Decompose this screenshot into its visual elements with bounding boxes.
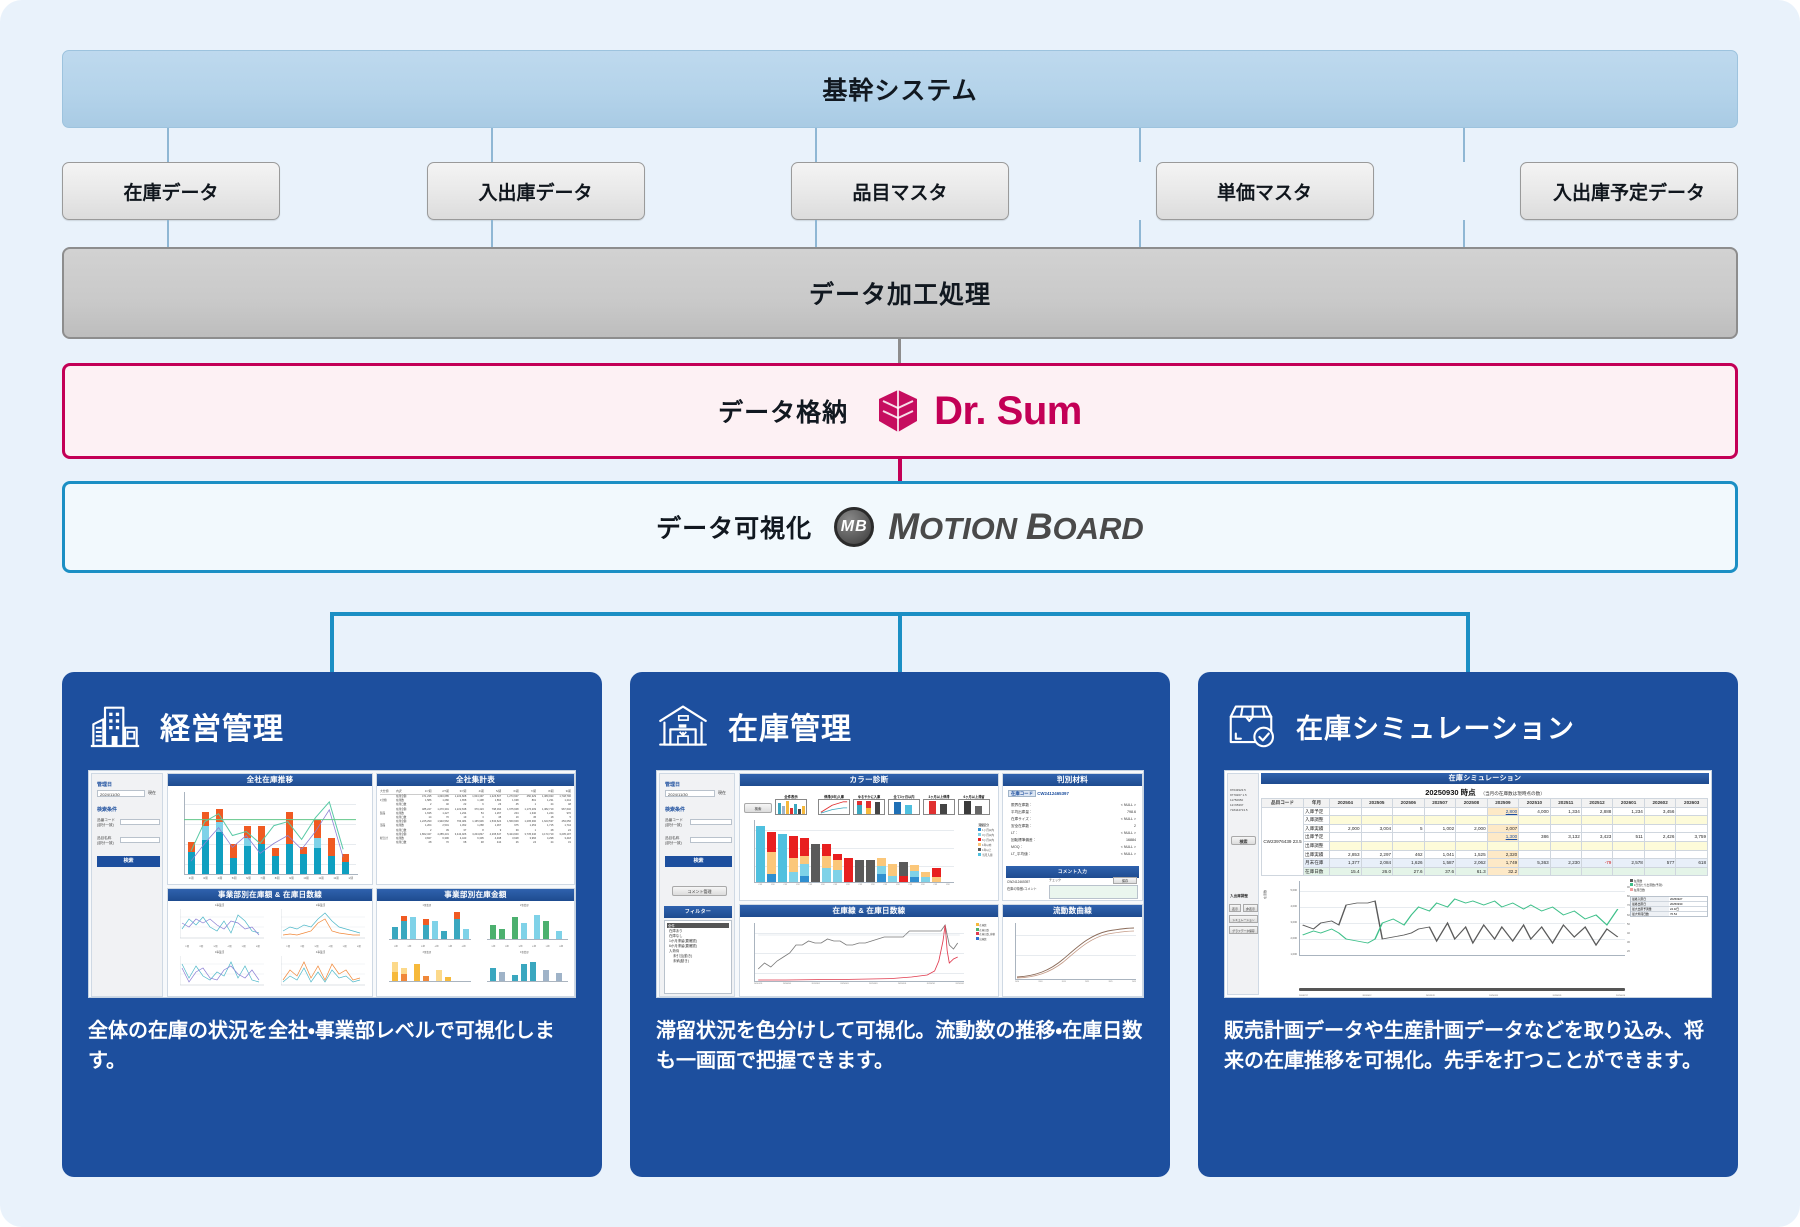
panel-judgement-material: 判別材料 在庫コード CW2412465397 限界在庫数：< NULL > 平… xyxy=(1002,773,1143,901)
panel-title: 事業部別在庫額 & 在庫日数線 xyxy=(168,889,372,901)
cell xyxy=(1644,850,1676,859)
toolbar-thumb-all[interactable]: 全件表示 xyxy=(775,794,807,815)
cell: 1,749 xyxy=(1487,859,1519,868)
motionboard-badge-label: MB xyxy=(841,518,868,536)
sidebar-field2-label: 品目名称 (部分一致) xyxy=(97,836,114,846)
card-header: 経営管理 xyxy=(88,694,576,758)
core-system-label: 基幹システム xyxy=(822,71,977,107)
sidebar-label-date: 管理日 xyxy=(665,781,680,788)
judgement-code: 在庫コード CW2412465397 xyxy=(1008,791,1069,797)
cell xyxy=(1361,807,1393,816)
cell: 2,320 xyxy=(1487,850,1519,859)
panel-company-inventory-trend: 全社在庫推移 xyxy=(167,773,373,885)
sidebar-label-date: 管理日 xyxy=(97,781,112,788)
judgement-value: 16884 xyxy=(1126,837,1136,844)
card-management[interactable]: 経営管理 管理日 2024/11/30 現在 検索条件 品番コード (部分一致)… xyxy=(62,672,602,1177)
io-simulate-button[interactable]: シミュレーション xyxy=(1229,915,1258,923)
sidebar-label-criteria: 検索条件 xyxy=(665,806,685,813)
sidebar-label-criteria: 検索条件 xyxy=(97,806,117,813)
toolbar-thumb-stagnant[interactable]: 停滞(5年)入庫 xyxy=(818,794,850,815)
cell: 3,759 xyxy=(1676,833,1708,842)
sidebar-date-suffix: 現在 xyxy=(148,790,156,796)
row-label: 月末在庫 xyxy=(1304,859,1330,868)
cell: 3,456 xyxy=(1644,807,1676,816)
table-row: 月末在庫 1,377 2,084 1,626 1,587 2,062 1,749… xyxy=(1262,859,1708,868)
connector-src-proc-5 xyxy=(1463,220,1465,247)
col-item-code: 品目コード xyxy=(1262,799,1304,808)
col-202509: 202509 xyxy=(1487,799,1519,808)
col-202507: 202507 xyxy=(1424,799,1456,808)
process-to-storage-connector xyxy=(62,339,1738,363)
cell xyxy=(1330,807,1362,816)
col-month: 年月 xyxy=(1304,799,1330,808)
cell: 5,363 xyxy=(1519,859,1551,868)
panel-division-inventory-amount: 事業部別在庫金額 1事業部 xyxy=(376,888,575,997)
mini-chart-1: 1事業部 1/期2/期3/期4/期5/期6/期 xyxy=(170,903,269,948)
cell: 462 xyxy=(1393,850,1425,859)
storage-label: データ格納 xyxy=(718,393,848,429)
cell: 386 xyxy=(1519,833,1551,842)
panel-company-summary-table: 全社集計表 大分類内訳 1/7期2/7期3/7期4/期5/期6/期7/期8/期9… xyxy=(376,773,575,885)
info-value: 76.54 xyxy=(1669,912,1707,916)
judgement-key: 限界在庫数： xyxy=(1011,802,1033,809)
cell xyxy=(1330,833,1362,842)
legend-label: 在庫日数 xyxy=(1634,888,1645,892)
row-label: 出庫予定 xyxy=(1304,833,1330,842)
judgement-key: LT_平均値： xyxy=(1011,851,1031,858)
toolbar-thumb-over3m[interactable]: 3ヶ月以上停滞 xyxy=(923,794,955,815)
cell: 511 xyxy=(1613,833,1645,842)
cell xyxy=(1613,850,1645,859)
dashboard-canvas: 在庫シミュレーション 97643923.5 9770267 1.5 117509… xyxy=(1225,771,1711,997)
cell: 2,230 xyxy=(1550,859,1581,868)
comment-check-label: チェック xyxy=(1049,878,1061,882)
connector-core-src-1 xyxy=(167,128,169,162)
cell xyxy=(1456,807,1488,816)
cell: 2,888 xyxy=(1581,807,1613,816)
filter-panel-title: フィルター xyxy=(664,906,732,918)
drsum-logo: Dr. Sum xyxy=(874,387,1082,435)
cell: 3,423 xyxy=(1581,833,1613,842)
feature-cards: 経営管理 管理日 2024/11/30 現在 検索条件 品番コード (部分一致)… xyxy=(62,672,1738,1177)
simulation-trend-chart: 在庫数 5,0004,0003,0002,0001,000 xyxy=(1281,881,1625,989)
row-label: 在庫日数 xyxy=(1304,867,1330,876)
cell xyxy=(1644,824,1676,833)
cell: 1,377 xyxy=(1330,859,1362,868)
cell xyxy=(1393,807,1425,816)
source-box-price-master[interactable]: 単価マスタ xyxy=(1156,162,1374,220)
cell xyxy=(1613,824,1645,833)
io-show-button[interactable]: 表示 xyxy=(1229,904,1241,912)
cell: 15.4 xyxy=(1330,867,1362,876)
judgement-key: 平均出庫量： xyxy=(1011,809,1033,816)
mini-chart-4: 4事業部 xyxy=(271,950,370,995)
cell: 2,800 xyxy=(1487,807,1519,816)
info-value: 24.9/日 xyxy=(1669,907,1707,911)
cell: 3,004 xyxy=(1361,824,1393,833)
toolbar-thumb-within3m[interactable]: 全て3ヶ月以内 xyxy=(888,794,920,815)
cell: 618 xyxy=(1676,859,1708,868)
drsum-wordmark: Dr. Sum xyxy=(934,389,1082,434)
toolbar-thumb-over6m[interactable]: 6ヶ月以上滞留 xyxy=(958,794,990,815)
connector-src-proc-3 xyxy=(815,220,817,247)
sidebar-item[interactable]: 718444713.5 xyxy=(1230,808,1248,813)
table-row: 出庫予定 1,300 386 3,132 3,423 511 xyxy=(1262,833,1708,842)
judgement-value: < NULL > xyxy=(1121,844,1136,851)
filter-item[interactable]: 未納(動き) xyxy=(667,958,729,963)
diagram-root: 基幹システム 在庫データ 入出庫データ 品目マスタ 単価マスタ 入出庫予定データ xyxy=(0,0,1800,1227)
x-label: 20250616 xyxy=(1616,995,1625,997)
table-row: 出庫調整 xyxy=(1262,841,1708,850)
judgement-code-tag: 在庫コード xyxy=(1008,790,1036,797)
cell: 1,002 xyxy=(1424,824,1456,833)
comment-code: CW2412465397 xyxy=(1007,880,1030,884)
motionboard-logo: MB MOTION BOARD xyxy=(834,506,1144,548)
sidebar-date-suffix: 現在 xyxy=(718,790,726,796)
sidebar-comment-manage-button[interactable]: コメント管理 xyxy=(672,886,727,896)
cell: 2,062 xyxy=(1456,859,1488,868)
sidebar-date-value: 2024/11/30 xyxy=(668,792,688,797)
cell: 2,084 xyxy=(1361,859,1393,868)
judgement-key: 在庫サイズ： xyxy=(1011,816,1032,823)
col-202505: 202505 xyxy=(1361,799,1393,808)
connector-core-src-3 xyxy=(815,128,817,162)
card-inventory-management[interactable]: 在庫管理 管理日 2024/11/30 現在 検索条件 品番コード (部分一致)… xyxy=(630,672,1170,1177)
card-inventory-simulation[interactable]: 在庫シミュレーション 在庫シミュレーション 97643923.5 9770267… xyxy=(1198,672,1738,1177)
mini-bar-3: 3事業部 xyxy=(379,950,475,995)
cell xyxy=(1676,807,1708,816)
mb-word2-rest: OARD xyxy=(1053,511,1144,546)
cell xyxy=(1456,833,1488,842)
sidebar-field1-input[interactable] xyxy=(690,819,732,825)
table-row: CW23976439 23.5 入庫予定 2,800 4,000 1,334 xyxy=(1262,807,1708,816)
sidebar-date-select[interactable]: 2024/11/30 xyxy=(665,790,715,797)
table-row: 在庫日数 15.4 26.0 27.6 37.6 61.3 32.2 xyxy=(1262,867,1708,876)
sidebar-field1-label: 品番コード (部分一致) xyxy=(665,818,683,828)
mb-word1-rest: OTION xyxy=(919,511,1017,546)
cell: 4,000 xyxy=(1519,807,1551,816)
x-label: 20250315 xyxy=(1489,995,1498,997)
chart-area: 2/期3/期4/期5/期6/期7/期8/期9/期10期11期12期1/期 xyxy=(184,792,356,872)
inventory-line-chart: 2024070120240901202411012025010120250301… xyxy=(754,923,964,984)
y-axis-left-label: 在庫数 xyxy=(1263,890,1267,899)
source-box-io-data[interactable]: 入出庫データ xyxy=(427,162,645,220)
connector-viz-card-2 xyxy=(898,612,902,672)
cell: 2,000 xyxy=(1330,824,1362,833)
col-202601: 202601 xyxy=(1613,799,1645,808)
simulation-legend-info: 在庫数 1日当たり出庫数(予測) 在庫日数 最終入庫日20250927 最終出庫… xyxy=(1630,879,1708,917)
source-label: 単価マスタ xyxy=(1217,178,1312,205)
x-label: 20241128 xyxy=(1426,995,1435,997)
sidebar-field2-label: 品目名称 (部分一致) xyxy=(665,836,682,846)
simulation-series xyxy=(1299,881,1625,955)
mini-bar-4: 4事業部 xyxy=(477,950,573,995)
color-diagnosis-chart: CWCWCWCWCWCWCWCWCWCWCWCWCWCWCWCW xyxy=(754,820,954,888)
judgement-key: 安全在庫数： xyxy=(1011,823,1033,830)
col-202512: 202512 xyxy=(1581,799,1613,808)
diagnosis-legend: 滞留区分 1ヶ月以内 3ヶ月以内 6ヶ月以内 1年以内 1年以上 当月入庫 xyxy=(978,824,994,858)
cell: -79 xyxy=(1581,859,1613,868)
cell xyxy=(1581,850,1613,859)
cell xyxy=(1424,833,1456,842)
sidebar-search-button[interactable]: 検索 xyxy=(665,856,732,867)
sidebar-field1-label: 品番コード (部分一致) xyxy=(97,818,115,828)
simulation-panel-title: 在庫シミュレーション xyxy=(1261,773,1709,784)
flow-curve-chart: 202420242024202520252025 xyxy=(1015,923,1136,984)
col-202602: 202602 xyxy=(1644,799,1676,808)
mini-bar-2: 2事業部 xyxy=(477,903,573,948)
cell xyxy=(1676,850,1708,859)
row-label: 入庫調整 xyxy=(1304,816,1330,825)
judgement-value: 798.6 xyxy=(1127,809,1136,816)
storage-to-viz-connector xyxy=(62,459,1738,481)
row-label: 入庫実績 xyxy=(1304,824,1330,833)
io-hide-button[interactable]: 非表示 xyxy=(1243,904,1258,912)
simulation-sidebar-list[interactable]: 97643923.5 9770267 1.5 11750950 12=65397… xyxy=(1230,788,1248,813)
cell: 2,007 xyxy=(1487,824,1519,833)
x-label: 20240717 xyxy=(1299,995,1308,997)
col-202504: 202504 xyxy=(1330,799,1362,808)
source-box-item-master[interactable]: 品目マスタ xyxy=(791,162,1009,220)
warehouse-icon xyxy=(656,701,710,751)
dashboard-canvas: 管理日 2024/11/30 現在 検索条件 品番コード (部分一致) 品目名称… xyxy=(89,771,575,997)
row-label: 出庫実績 xyxy=(1304,850,1330,859)
dashboard-sidebar: 管理日 2024/11/30 現在 検索条件 品番コード (部分一致) 品目名称… xyxy=(91,773,163,997)
row-label: 出庫調整 xyxy=(1304,841,1330,850)
simulation-table-wrap: 品目コード 年月 202504 202505 202506 202507 202… xyxy=(1261,798,1708,876)
core-system-bar: 基幹システム xyxy=(62,50,1738,128)
cell: 3,132 xyxy=(1550,833,1581,842)
chart-scrollbar[interactable] xyxy=(1299,988,1625,991)
connector-core-src-5 xyxy=(1463,128,1465,162)
card-title: 在庫シミュレーション xyxy=(1296,707,1575,746)
row-label: 入庫予定 xyxy=(1304,807,1330,816)
cell: 1,334 xyxy=(1550,807,1581,816)
judgement-value: < NULL > xyxy=(1121,802,1136,809)
sidebar-date-select[interactable]: 2024/11/30 xyxy=(97,790,145,797)
card-title: 在庫管理 xyxy=(728,704,852,748)
source-boxes-row: 在庫データ 入出庫データ 品目マスタ 単価マスタ 入出庫予定データ xyxy=(62,162,1738,220)
table-row: 入庫調整 xyxy=(1262,816,1708,825)
cell: 2,297 xyxy=(1361,850,1393,859)
cell xyxy=(1550,850,1581,859)
mini-chart-3: 3事業部 xyxy=(170,950,269,995)
storage-bar: データ格納 Dr. Sum xyxy=(62,363,1738,459)
judgement-code-value: CW2412465397 xyxy=(1037,791,1069,796)
core-to-sources-connectors xyxy=(62,128,1738,162)
simulation-table: 品目コード 年月 202504 202505 202506 202507 202… xyxy=(1261,798,1708,876)
cell: 2,853 xyxy=(1330,850,1362,859)
col-202508: 202508 xyxy=(1456,799,1488,808)
panel-title: 流動数曲線 xyxy=(1003,905,1142,917)
table-row: 出庫実績 2,853 2,297 462 1,041 1,525 2,320 xyxy=(1262,850,1708,859)
sidebar-field2-input[interactable] xyxy=(690,837,732,843)
panel-color-diagnosis: カラー診断 検索 全件表示 xyxy=(739,773,999,901)
table-header-row: 品目コード 年月 202504 202505 202506 202507 202… xyxy=(1262,799,1708,808)
connector-viz-card-3 xyxy=(1466,612,1470,672)
judgement-key: 回転標準偏差： xyxy=(1011,837,1036,844)
graph-data-save-button[interactable]: グラフデータ保存 xyxy=(1229,926,1258,934)
card-caption: 販売計画データや生産計画データなどを取り込み、将来の在庫推移を可視化。先手を打つ… xyxy=(1224,1016,1712,1076)
source-label: 在庫データ xyxy=(123,178,218,205)
card-header: 在庫シミュレーション xyxy=(1224,694,1712,758)
card-caption: 滞留状況を色分けして可視化。流動数の推移・在庫日数も一画面で把握できます。 xyxy=(656,1016,1144,1076)
simulation-sidebar: 97643923.5 9770267 1.5 11750950 12=65397… xyxy=(1227,773,1259,995)
cell: 1,300 xyxy=(1487,833,1519,842)
card-header: 在庫管理 xyxy=(656,694,1144,758)
cell xyxy=(1676,824,1708,833)
cell: 1,234 xyxy=(1613,807,1645,816)
panel-title: 全社在庫推移 xyxy=(168,774,372,786)
connector-store-viz xyxy=(898,459,902,481)
cell xyxy=(1550,824,1581,833)
toolbar-search-button[interactable]: 検索 xyxy=(744,803,772,813)
motionboard-wordmark: MOTION BOARD xyxy=(888,506,1144,548)
cell xyxy=(1581,824,1613,833)
panel-title: 全社集計表 xyxy=(377,774,574,786)
judgement-value: 2 xyxy=(1134,823,1136,830)
connector-core-src-2 xyxy=(491,128,493,162)
dashboard-canvas: 管理日 2024/11/30 現在 検索条件 品番コード (部分一致) 品目名称… xyxy=(657,771,1143,997)
sidebar-search-button[interactable]: 検索 xyxy=(97,856,160,867)
cell: 2,578 xyxy=(1613,859,1645,868)
info-key: 最大出庫予測量 xyxy=(1631,907,1669,911)
flow-curves xyxy=(1015,923,1136,979)
filter-list[interactable]: 全件 在庫あり 在庫なし 1か月滞留(要確認) 6か月滞留(要確認) 入荷待 未… xyxy=(664,920,732,994)
info-key: 最終入庫日 xyxy=(1631,897,1669,901)
process-label: データ加工処理 xyxy=(809,275,991,311)
trend-lines xyxy=(184,792,356,873)
cell xyxy=(1519,850,1551,859)
panel-title: カラー診断 xyxy=(740,774,998,786)
simulation-asof-note: （当月の在庫数は現時点の数） xyxy=(1480,791,1544,796)
info-value: 20250930 xyxy=(1669,902,1707,906)
judgement-value: < NULL > xyxy=(1121,830,1136,837)
cell xyxy=(1361,833,1393,842)
connector-src-proc-1 xyxy=(167,220,169,247)
sidebar-field1-input[interactable] xyxy=(120,819,160,825)
cell: 1,626 xyxy=(1393,859,1425,868)
diagnosis-toolbar[interactable]: 検索 全件表示 xyxy=(744,789,994,815)
sources-to-process-connectors xyxy=(62,220,1738,247)
drsum-cube-icon xyxy=(874,387,922,435)
info-key: 最終出庫日 xyxy=(1631,902,1669,906)
office-building-icon xyxy=(88,701,142,751)
card-caption: 全体の在庫の状況を全社・事業部レベルで可視化します。 xyxy=(88,1016,576,1076)
simulation-legend: 在庫数 1日当たり出庫数(予測) 在庫日数 xyxy=(1630,879,1708,892)
x-axis-labels: 20240717 20241012 20241128 20250315 2025… xyxy=(1299,995,1625,997)
cell: 5 xyxy=(1393,824,1425,833)
cell xyxy=(1519,824,1551,833)
process-bar: データ加工処理 xyxy=(62,247,1738,339)
simulation-search-button[interactable]: 検索 xyxy=(1231,836,1256,845)
x-label: 20250531 xyxy=(1553,995,1562,997)
col-202506: 202506 xyxy=(1393,799,1425,808)
mini-bar-1: 1事業部 xyxy=(379,903,475,948)
flow-section: 基幹システム 在庫データ 入出庫データ 品目マスタ 単価マスタ 入出庫予定データ xyxy=(62,50,1738,573)
panel-division-inventory-and-days: 事業部別在庫額 & 在庫日数線 1事業部 xyxy=(167,888,373,997)
connector-src-proc-2 xyxy=(491,220,493,247)
panel-title: 事業部別在庫金額 xyxy=(377,889,574,901)
panel-title: 在庫線 & 在庫日数線 xyxy=(740,905,998,917)
sidebar-field2-input[interactable] xyxy=(120,837,160,843)
col-202511: 202511 xyxy=(1550,799,1581,808)
legend-label: 在庫数 xyxy=(1634,879,1642,883)
x-label: 20241012 xyxy=(1362,995,1371,997)
cell xyxy=(1424,807,1456,816)
panel-title: 判別材料 xyxy=(1003,774,1142,786)
judgement-key: LT： xyxy=(1011,830,1019,837)
source-box-inventory-data[interactable]: 在庫データ xyxy=(62,162,280,220)
source-box-io-schedule-data[interactable]: 入出庫予定データ xyxy=(1520,162,1738,220)
dashboard-screenshot-inventory[interactable]: 管理日 2024/11/30 現在 検索条件 品番コード (部分一致) 品目名称… xyxy=(656,770,1144,998)
comment-field-label: 在庫の特徴・コメント xyxy=(1007,886,1037,891)
io-adjust-label: 入出庫調整 xyxy=(1230,894,1248,899)
dashboard-sidebar: 管理日 2024/11/30 現在 検索条件 品番コード (部分一致) 品目名称… xyxy=(659,773,735,997)
info-value: 20250927 xyxy=(1669,897,1707,901)
cell: 2,000 xyxy=(1456,824,1488,833)
connector-viz-bus xyxy=(330,612,1470,616)
cell-item-code: CW23976439 23.5 xyxy=(1262,807,1304,876)
simulation-asof-row: 20250930 時点 （当月の在庫数は現時点の数） xyxy=(1261,787,1709,798)
connector-proc-store xyxy=(898,339,901,363)
mb-word2-cap: B xyxy=(1026,506,1053,547)
cell: 1,587 xyxy=(1424,859,1456,868)
col-202603: 202603 xyxy=(1676,799,1708,808)
source-label: 入出庫データ xyxy=(478,178,592,205)
judgement-rows: 限界在庫数：< NULL > 平均出庫量：798.6 在庫サイズ：< NULL … xyxy=(1011,802,1136,858)
col-202510: 202510 xyxy=(1519,799,1551,808)
comment-save-button[interactable]: 保存 xyxy=(1113,877,1137,884)
comment-textarea[interactable] xyxy=(1049,885,1138,899)
box-check-icon xyxy=(1224,701,1278,751)
cell: 1,525 xyxy=(1456,850,1488,859)
panel-flow-curve: 流動数曲線 202420242024202520252025 xyxy=(1002,904,1143,997)
inventory-lines xyxy=(754,923,964,981)
judgement-value: < NULL > xyxy=(1121,851,1136,858)
source-label: 入出庫予定データ xyxy=(1553,178,1705,205)
dashboard-screenshot-simulation[interactable]: 在庫シミュレーション 97643923.5 9770267 1.5 117509… xyxy=(1224,770,1712,998)
judgement-key: MOQ： xyxy=(1011,844,1023,851)
simulation-asof: 20250930 時点 xyxy=(1425,788,1475,797)
table-row: 入庫実績 2,000 3,004 5 1,002 2,000 2,007 xyxy=(1262,824,1708,833)
cell: 1,041 xyxy=(1424,850,1456,859)
mini-chart-2: 2事業部 1/期2/期3/期4/期5/期6/期 xyxy=(271,903,370,948)
cell xyxy=(1393,833,1425,842)
dashboard-screenshot-management[interactable]: 管理日 2024/11/30 現在 検索条件 品番コード (部分一致) 品目名称… xyxy=(88,770,576,998)
panel-inventory-and-days-line: 在庫線 & 在庫日数線 xyxy=(739,904,999,997)
visualize-bar: データ可視化 MB MOTION BOARD xyxy=(62,481,1738,573)
legend-label: 1日当たり出庫数(予測) xyxy=(1634,883,1663,887)
card-title: 経営管理 xyxy=(160,704,284,748)
motionboard-badge-icon: MB xyxy=(834,507,874,547)
cell: 2,426 xyxy=(1644,833,1676,842)
toolbar-thumb-gradual[interactable]: ゆるやかに入庫 xyxy=(853,794,885,815)
judgement-value: < NULL > xyxy=(1121,816,1136,823)
cell: 61.3 xyxy=(1456,867,1488,876)
connector-viz-card-1 xyxy=(330,612,334,672)
cell: 26.0 xyxy=(1361,867,1393,876)
summary-table: 大分類内訳 1/7期2/7期3/7期4/期5/期6/期7/期8/期9/期 在庫金… xyxy=(380,789,571,845)
inventory-line-legend: 在庫数 在庫日数 在庫日数_移動 出庫数 xyxy=(976,923,995,941)
connector-src-proc-4 xyxy=(1139,220,1141,247)
cell: 32.2 xyxy=(1487,867,1519,876)
simulation-info-box: 最終入庫日20250927 最終出庫日20250930 最大出庫予測量24.9/… xyxy=(1630,896,1708,917)
cell: 577 xyxy=(1644,859,1676,868)
visualize-label: データ可視化 xyxy=(656,509,812,545)
source-label: 品目マスタ xyxy=(852,178,947,205)
connector-core-src-4 xyxy=(1139,128,1141,162)
